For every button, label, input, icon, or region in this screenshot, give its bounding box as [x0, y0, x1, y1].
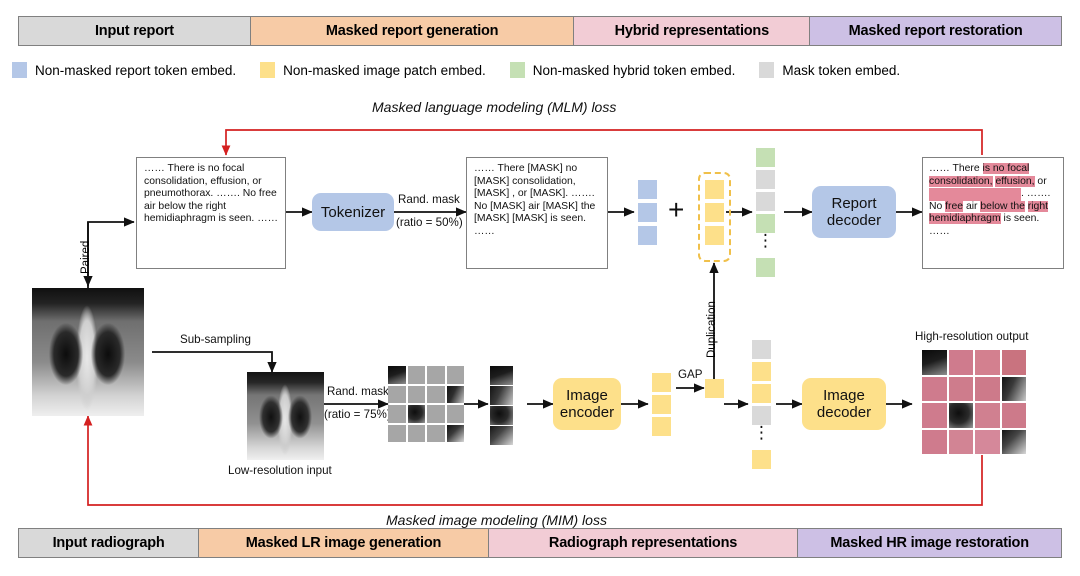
- stage-label: Radiograph representations: [549, 535, 737, 551]
- connector-overlay: [0, 0, 1080, 576]
- patch-restored: [922, 377, 947, 402]
- image-patch-embed: [652, 395, 671, 414]
- stage-label: Masked LR image generation: [246, 535, 441, 551]
- patch-visible: [922, 350, 947, 375]
- image-patch-embed: [705, 203, 724, 222]
- legend: Non-masked report token embed. Non-maske…: [12, 60, 1068, 80]
- duplication-label: Duplication: [706, 301, 718, 358]
- legend-item-report-token: Non-masked report token embed.: [12, 62, 236, 78]
- report-decoder-block[interactable]: Report decoder: [812, 186, 896, 238]
- patch-visible: [447, 386, 465, 404]
- patch-visible: [1002, 377, 1027, 402]
- top-stage-bar: Input report Masked report generation Hy…: [18, 16, 1062, 46]
- patch-visible: [490, 406, 513, 425]
- patch-restored: [975, 403, 1000, 428]
- low-resolution-input-caption: Low-resolution input: [228, 464, 332, 477]
- tokenizer-block[interactable]: Tokenizer: [312, 193, 394, 231]
- stage-masked-lr-image-generation: Masked LR image generation: [199, 529, 489, 557]
- rand-mask-text-label-line1: Rand. mask: [398, 193, 460, 206]
- report-decoder-label-line2: decoder: [827, 212, 881, 229]
- masked-report-text: …… There [MASK] no [MASK] consolidation,…: [474, 163, 595, 237]
- hybrid-token-embed: [756, 258, 775, 277]
- patch-restored: [922, 430, 947, 455]
- mask-token-embed: [752, 340, 771, 359]
- patch-restored: [1002, 350, 1027, 375]
- mlm-loss-label: Masked language modeling (MLM) loss: [372, 99, 616, 115]
- input-report-box: …… There is no focal consolidation, effu…: [136, 157, 286, 269]
- patch-visible: [388, 366, 406, 384]
- image-encoder-block[interactable]: Image encoder: [553, 378, 621, 430]
- legend-item-hybrid-token: Non-masked hybrid token embed.: [510, 62, 736, 78]
- image-patch-embed: [652, 417, 671, 436]
- patch-restored: [1002, 403, 1027, 428]
- patch-masked: [408, 425, 426, 443]
- low-resolution-radiograph: [247, 372, 324, 460]
- rand-mask-image-label-line1: Rand. mask: [327, 385, 389, 398]
- patch-masked: [388, 405, 406, 423]
- patch-visible: [408, 405, 426, 423]
- sub-sampling-label: Sub-sampling: [180, 333, 251, 346]
- stage-label: Masked report restoration: [849, 23, 1023, 39]
- report-decoder-label-line1: Report: [831, 195, 876, 212]
- restored-report-box: …… There is no focal consolidation, effu…: [922, 157, 1064, 269]
- legend-swatch-mask-token: [759, 62, 774, 78]
- patch-restored: [922, 403, 947, 428]
- high-resolution-output-caption: High-resolution output: [915, 330, 1028, 343]
- patch-masked: [408, 386, 426, 404]
- image-patch-embed: [705, 180, 724, 199]
- image-patch-embed: [752, 384, 771, 403]
- legend-label: Non-masked image patch embed.: [283, 63, 486, 78]
- patch-visible: [490, 386, 513, 405]
- legend-swatch-image-patch: [260, 62, 275, 78]
- stage-label: Input radiograph: [53, 535, 165, 551]
- image-encoder-label-line2: encoder: [560, 404, 614, 421]
- patch-restored: [975, 350, 1000, 375]
- legend-swatch-report-token: [12, 62, 27, 78]
- input-report-text: …… There is no focal consolidation, effu…: [144, 163, 278, 224]
- stage-masked-report-generation: Masked report generation: [251, 17, 574, 45]
- report-token-embed: [638, 203, 657, 222]
- gap-pooled-embed: [705, 379, 724, 398]
- report-token-embed: [638, 180, 657, 199]
- masked-report-box: …… There [MASK] no [MASK] consolidation,…: [466, 157, 608, 269]
- patch-masked: [447, 366, 465, 384]
- image-patch-embed: [752, 450, 771, 469]
- bottom-stage-bar: Input radiograph Masked LR image generat…: [18, 528, 1062, 558]
- mask-token-embed: [756, 192, 775, 211]
- stage-masked-report-restoration: Masked report restoration: [810, 17, 1061, 45]
- report-token-embed: [638, 226, 657, 245]
- stage-radiograph-representations: Radiograph representations: [489, 529, 799, 557]
- stage-input-report: Input report: [19, 17, 251, 45]
- patch-masked: [427, 425, 445, 443]
- restored-report-text: …… There is no focal consolidation, effu…: [929, 163, 1058, 239]
- patch-visible: [1002, 430, 1027, 455]
- stage-label: Masked HR image restoration: [830, 535, 1028, 551]
- rand-mask-text-label-line2: (ratio = 50%): [396, 216, 463, 229]
- paired-label: Paired: [80, 241, 92, 274]
- mim-loss-label: Masked image modeling (MIM) loss: [386, 512, 607, 528]
- patch-restored: [975, 430, 1000, 455]
- stage-input-radiograph: Input radiograph: [19, 529, 199, 557]
- rand-mask-image-label-line2: (ratio = 75%): [324, 408, 391, 421]
- patch-masked: [388, 386, 406, 404]
- patch-masked: [447, 405, 465, 423]
- image-patch-embed: [652, 373, 671, 392]
- visible-patch-strip: [490, 366, 513, 445]
- plus-sign: +: [668, 196, 684, 224]
- patch-visible: [490, 366, 513, 385]
- image-decoder-label-line1: Image: [823, 387, 865, 404]
- patch-masked: [427, 386, 445, 404]
- legend-label: Non-masked hybrid token embed.: [533, 63, 736, 78]
- image-encoder-label-line1: Image: [566, 387, 608, 404]
- patch-restored: [949, 350, 974, 375]
- image-decoder-label-line2: decoder: [817, 404, 871, 421]
- patch-masked: [427, 405, 445, 423]
- image-patch-embed: [705, 226, 724, 245]
- legend-item-image-patch: Non-masked image patch embed.: [260, 62, 486, 78]
- vertical-ellipsis: ⋮: [756, 238, 775, 258]
- patch-restored: [949, 430, 974, 455]
- legend-swatch-hybrid-token: [510, 62, 525, 78]
- patch-visible: [490, 426, 513, 445]
- patch-masked: [408, 366, 426, 384]
- legend-label: Non-masked report token embed.: [35, 63, 236, 78]
- stage-label: Hybrid representations: [615, 23, 769, 39]
- patch-masked: [388, 425, 406, 443]
- patch-restored: [949, 377, 974, 402]
- stage-label: Input report: [95, 23, 174, 39]
- patch-visible: [949, 403, 974, 428]
- source-radiograph: [32, 288, 144, 416]
- legend-label: Mask token embed.: [782, 63, 900, 78]
- tokenizer-label: Tokenizer: [321, 204, 385, 221]
- image-patch-embed: [752, 362, 771, 381]
- hybrid-token-embed: [756, 148, 775, 167]
- masked-patch-grid: [388, 366, 464, 442]
- stage-masked-hr-image-restoration: Masked HR image restoration: [798, 529, 1061, 557]
- vertical-ellipsis: ⋮: [752, 430, 771, 450]
- high-resolution-output-grid: [922, 350, 1026, 454]
- patch-visible: [447, 425, 465, 443]
- gap-label: GAP: [678, 368, 702, 381]
- mask-token-embed: [756, 170, 775, 189]
- stage-hybrid-representations: Hybrid representations: [574, 17, 810, 45]
- stage-label: Masked report generation: [326, 23, 498, 39]
- image-decoder-block[interactable]: Image decoder: [802, 378, 886, 430]
- patch-masked: [427, 366, 445, 384]
- legend-item-mask-token: Mask token embed.: [759, 62, 900, 78]
- patch-restored: [975, 377, 1000, 402]
